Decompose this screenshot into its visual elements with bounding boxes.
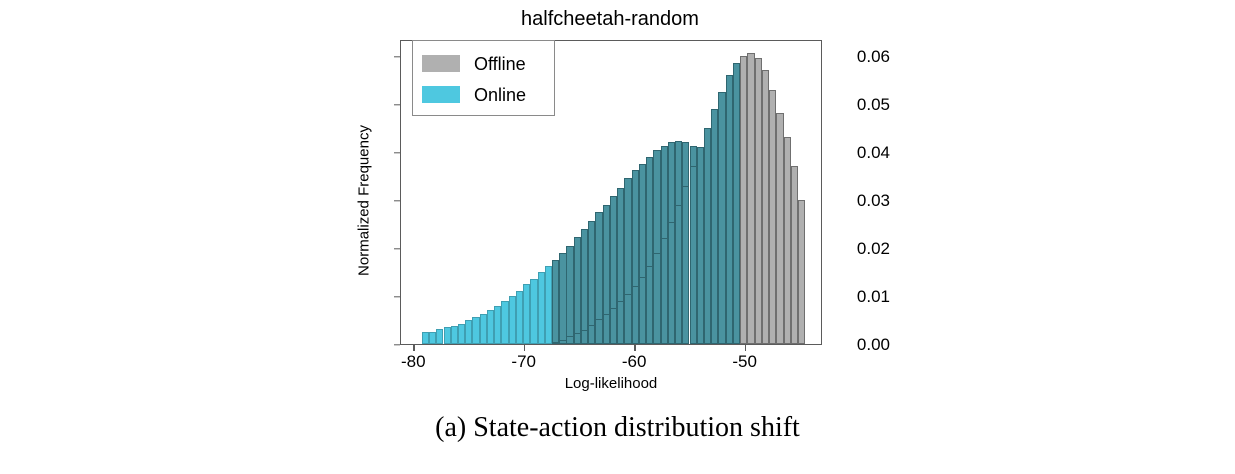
x-tick-mark: [524, 345, 525, 351]
y-tick-label: 0.04: [832, 143, 890, 163]
histogram-bar: [422, 332, 429, 344]
histogram-bar: [762, 70, 769, 344]
x-tick-mark: [634, 345, 635, 351]
histogram-bar: [632, 286, 639, 344]
histogram-bar: [675, 205, 682, 344]
histogram-chart: halfcheetah-random Normalized Frequency …: [330, 0, 890, 400]
histogram-bar: [617, 301, 624, 344]
histogram-bar: [682, 186, 689, 345]
histogram-bar: [559, 253, 566, 344]
histogram-bar: [566, 336, 573, 344]
x-axis-label: Log-likelihood: [400, 375, 822, 392]
histogram-bar: [639, 277, 646, 344]
histogram-bar: [581, 229, 588, 344]
y-tick-label: 0.06: [832, 47, 890, 67]
histogram-bar: [595, 319, 602, 344]
histogram-bar: [545, 266, 552, 344]
figure-panel: halfcheetah-random Normalized Frequency …: [0, 0, 1235, 474]
online-swatch-icon: [422, 86, 460, 103]
histogram-bar: [566, 246, 573, 344]
histogram-bar: [523, 284, 530, 344]
x-tick-label: -70: [489, 352, 559, 372]
histogram-bar: [509, 296, 516, 344]
chart-title: halfcheetah-random: [330, 8, 890, 31]
histogram-bar: [451, 326, 458, 344]
y-axis-label: Normalized Frequency: [356, 81, 373, 321]
legend-label-offline: Offline: [474, 55, 526, 73]
histogram-bar: [436, 329, 443, 344]
histogram-bar: [494, 306, 501, 344]
histogram-bar: [458, 324, 465, 344]
histogram-bar: [718, 92, 725, 344]
histogram-bar: [784, 137, 791, 344]
offline-swatch-icon: [422, 55, 460, 72]
histogram-bar: [480, 314, 487, 344]
histogram-bar: [429, 332, 436, 344]
y-tick-label: 0.02: [832, 239, 890, 259]
x-tick-label: -60: [599, 352, 669, 372]
histogram-bar: [530, 279, 537, 344]
histogram-bar: [697, 147, 704, 344]
histogram-bar: [711, 109, 718, 344]
histogram-bar: [776, 113, 783, 344]
histogram-bar: [603, 314, 610, 344]
histogram-bar: [726, 75, 733, 344]
histogram-bar: [653, 253, 660, 344]
histogram-bar: [733, 63, 740, 344]
chart-legend: Offline Online: [412, 40, 555, 116]
histogram-bar: [624, 294, 631, 344]
histogram-bar: [516, 291, 523, 344]
histogram-bar: [552, 260, 559, 344]
y-tick-label: 0.03: [832, 191, 890, 211]
legend-label-online: Online: [474, 86, 526, 104]
histogram-bar: [559, 340, 566, 344]
histogram-bar: [581, 330, 588, 344]
histogram-bar: [755, 58, 762, 344]
histogram-bar: [487, 310, 494, 344]
x-tick-mark: [413, 345, 414, 351]
x-tick-label: -80: [378, 352, 448, 372]
histogram-bar: [646, 266, 653, 344]
histogram-bar: [791, 166, 798, 344]
histogram-bar: [610, 308, 617, 345]
histogram-bar: [704, 128, 711, 344]
histogram-bar: [690, 166, 697, 344]
x-tick-mark: [745, 345, 746, 351]
histogram-bar: [747, 53, 754, 344]
y-tick-label: 0.00: [832, 335, 890, 355]
histogram-bar: [538, 272, 545, 344]
histogram-bar: [465, 320, 472, 344]
y-tick-label: 0.01: [832, 287, 890, 307]
legend-item-online: Online: [413, 79, 554, 110]
y-tick-label: 0.05: [832, 95, 890, 115]
legend-item-offline: Offline: [413, 48, 554, 79]
histogram-bar: [574, 237, 581, 344]
histogram-bar: [444, 327, 451, 344]
histogram-bar: [552, 342, 559, 344]
histogram-bar: [661, 238, 668, 344]
histogram-bar: [769, 90, 776, 344]
histogram-bar: [740, 56, 747, 344]
histogram-bar: [501, 301, 508, 344]
figure-caption: (a) State-action distribution shift: [0, 412, 1235, 444]
histogram-bar: [574, 333, 581, 344]
histogram-bar: [472, 317, 479, 344]
x-tick-label: -50: [710, 352, 780, 372]
histogram-bar: [668, 222, 675, 344]
histogram-bar: [588, 325, 595, 344]
histogram-bar: [798, 200, 805, 344]
